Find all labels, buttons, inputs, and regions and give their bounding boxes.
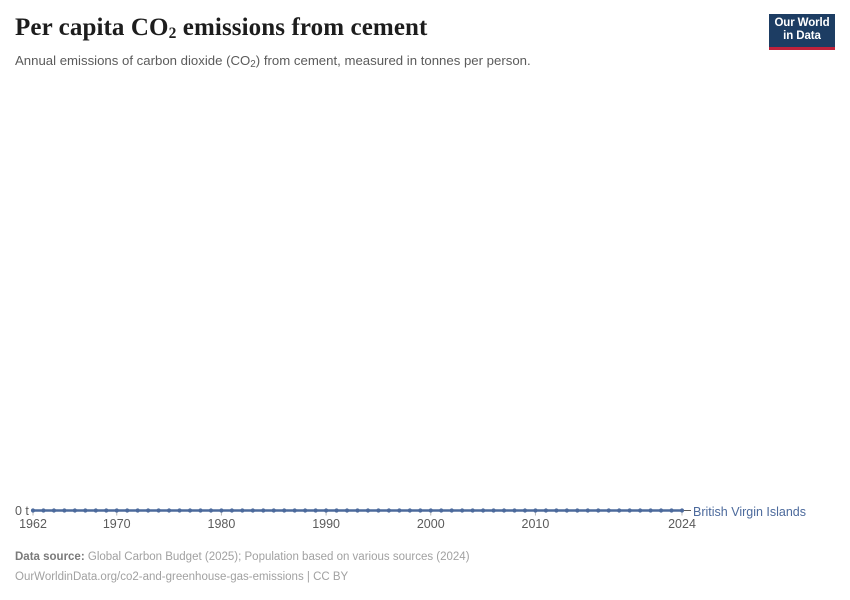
logo-line-2: in Data xyxy=(783,30,821,42)
data-point-marker[interactable] xyxy=(533,508,537,512)
x-axis-tick-label-2010: 2010 xyxy=(522,517,550,531)
data-point-marker[interactable] xyxy=(324,508,328,512)
chart-svg xyxy=(0,80,850,530)
data-point-marker[interactable] xyxy=(83,508,87,512)
data-point-marker[interactable] xyxy=(586,508,590,512)
data-point-marker[interactable] xyxy=(52,508,56,512)
data-point-marker[interactable] xyxy=(439,508,443,512)
data-point-marker[interactable] xyxy=(177,508,181,512)
page-title-prefix: Per capita CO xyxy=(15,14,169,41)
data-point-marker[interactable] xyxy=(554,508,558,512)
x-axis-tick-label-1962: 1962 xyxy=(19,517,47,531)
footer-data-source: Data source: Global Carbon Budget (2025)… xyxy=(15,548,835,568)
data-point-marker[interactable] xyxy=(272,508,276,512)
data-point-marker[interactable] xyxy=(94,508,98,512)
footer-license[interactable]: OurWorldinData.org/co2-and-greenhouse-ga… xyxy=(15,568,835,588)
page-title: Per capita CO2 emissions from cement xyxy=(15,14,427,43)
data-point-marker[interactable] xyxy=(334,508,338,512)
our-world-in-data-logo[interactable]: Our World in Data xyxy=(769,14,835,50)
logo-line-1: Our World xyxy=(774,17,829,29)
data-point-marker[interactable] xyxy=(355,508,359,512)
data-point-marker[interactable] xyxy=(282,508,286,512)
data-point-marker[interactable] xyxy=(188,508,192,512)
data-point-marker[interactable] xyxy=(471,508,475,512)
data-point-marker[interactable] xyxy=(491,508,495,512)
data-point-marker[interactable] xyxy=(565,508,569,512)
data-point-marker[interactable] xyxy=(293,508,297,512)
data-point-marker[interactable] xyxy=(240,508,244,512)
data-point-marker[interactable] xyxy=(544,508,548,512)
data-point-marker[interactable] xyxy=(219,508,223,512)
data-point-marker[interactable] xyxy=(125,508,129,512)
data-point-marker[interactable] xyxy=(198,508,202,512)
data-point-marker[interactable] xyxy=(481,508,485,512)
data-point-marker[interactable] xyxy=(167,508,171,512)
logo-text: Our World in Data xyxy=(769,17,835,43)
data-point-marker[interactable] xyxy=(429,508,433,512)
data-point-marker[interactable] xyxy=(607,508,611,512)
data-point-marker[interactable] xyxy=(261,508,265,512)
page-subtitle-subscript: 2 xyxy=(250,59,256,70)
data-point-marker[interactable] xyxy=(523,508,527,512)
data-point-marker[interactable] xyxy=(596,508,600,512)
data-point-marker[interactable] xyxy=(62,508,66,512)
data-point-marker[interactable] xyxy=(41,508,45,512)
page-title-subscript: 2 xyxy=(169,25,177,42)
data-point-marker[interactable] xyxy=(230,508,234,512)
page-subtitle-prefix: Annual emissions of carbon dioxide (CO xyxy=(15,53,250,68)
data-point-marker[interactable] xyxy=(408,508,412,512)
x-axis-tick-label-2000: 2000 xyxy=(417,517,445,531)
data-point-marker[interactable] xyxy=(617,508,621,512)
data-point-marker[interactable] xyxy=(115,508,119,512)
data-point-marker[interactable] xyxy=(251,508,255,512)
data-point-marker[interactable] xyxy=(680,508,684,512)
data-point-marker[interactable] xyxy=(104,508,108,512)
data-point-marker[interactable] xyxy=(146,508,150,512)
data-point-marker[interactable] xyxy=(314,508,318,512)
data-point-marker[interactable] xyxy=(460,508,464,512)
x-axis-tick-label-1980: 1980 xyxy=(208,517,236,531)
x-axis-tick-label-1970: 1970 xyxy=(103,517,131,531)
series-data-point-markers xyxy=(31,508,684,512)
data-point-marker[interactable] xyxy=(31,508,35,512)
page-subtitle-suffix: ) from cement, measured in tonnes per pe… xyxy=(256,53,531,68)
data-point-marker[interactable] xyxy=(136,508,140,512)
data-point-marker[interactable] xyxy=(345,508,349,512)
data-point-marker[interactable] xyxy=(418,508,422,512)
page-title-suffix: emissions from cement xyxy=(176,14,427,41)
data-point-marker[interactable] xyxy=(209,508,213,512)
footer-data-source-value: Global Carbon Budget (2025); Population … xyxy=(88,551,470,563)
data-point-marker[interactable] xyxy=(512,508,516,512)
series-label-british-virgin-islands: British Virgin Islands xyxy=(693,505,806,519)
data-point-marker[interactable] xyxy=(638,508,642,512)
footer-data-source-label: Data source: xyxy=(15,551,85,563)
data-point-marker[interactable] xyxy=(659,508,663,512)
data-point-marker[interactable] xyxy=(387,508,391,512)
x-axis-tick-label-1990: 1990 xyxy=(312,517,340,531)
data-point-marker[interactable] xyxy=(157,508,161,512)
data-point-marker[interactable] xyxy=(303,508,307,512)
data-point-marker[interactable] xyxy=(376,508,380,512)
data-point-marker[interactable] xyxy=(669,508,673,512)
data-point-marker[interactable] xyxy=(502,508,506,512)
y-axis-zero-label: 0 t xyxy=(15,504,29,518)
data-point-marker[interactable] xyxy=(575,508,579,512)
chart-footer: Data source: Global Carbon Budget (2025)… xyxy=(15,548,835,588)
data-point-marker[interactable] xyxy=(628,508,632,512)
x-axis-tick-label-2024: 2024 xyxy=(668,517,696,531)
page-subtitle: Annual emissions of carbon dioxide (CO2)… xyxy=(15,52,531,70)
data-point-marker[interactable] xyxy=(366,508,370,512)
data-point-marker[interactable] xyxy=(397,508,401,512)
chart-plot-area[interactable]: 0 t 1962197019801990200020102024 British… xyxy=(0,80,850,530)
data-point-marker[interactable] xyxy=(450,508,454,512)
data-point-marker[interactable] xyxy=(649,508,653,512)
data-point-marker[interactable] xyxy=(73,508,77,512)
